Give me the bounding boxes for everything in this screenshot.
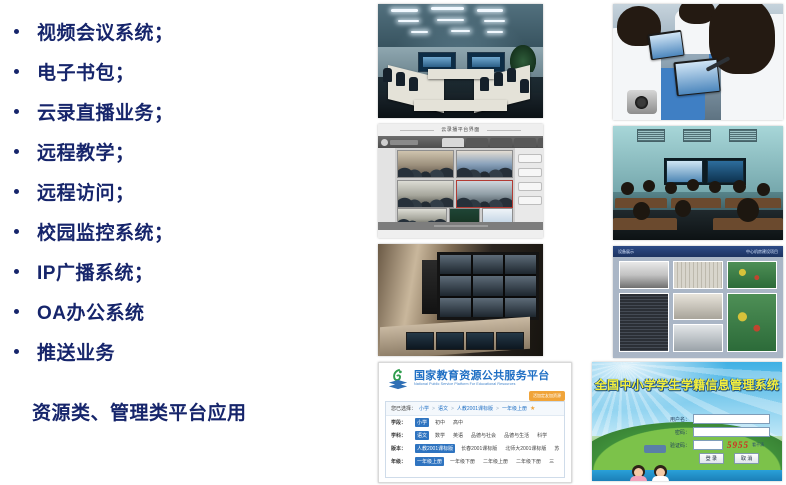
equipment-gallery-screenshot: 设备展示 中心机房建设项目 bbox=[613, 246, 783, 358]
bullet-dot-icon bbox=[14, 189, 19, 194]
app-footer bbox=[378, 222, 543, 230]
captcha-field-row: 验证码： 5955 看不清 bbox=[666, 440, 770, 450]
list-item: 校园监控系统； bbox=[14, 216, 174, 246]
filter-option[interactable]: 一年级下册 bbox=[448, 457, 477, 466]
filter-label: 版本： bbox=[391, 445, 411, 452]
filter-option[interactable]: 初中 bbox=[433, 418, 447, 427]
filter-row-stage: 学段： 小学 初中 高中 bbox=[386, 416, 564, 429]
filter-row-grade: 年级： 一年级上册 一年级下册 二年级上册 二年级下册 三 bbox=[386, 455, 564, 468]
breadcrumb-label: 您已选择： bbox=[391, 405, 416, 412]
password-input[interactable] bbox=[693, 427, 770, 437]
tab-vod[interactable] bbox=[490, 138, 512, 147]
list-item-label: OA办公系统 bbox=[37, 298, 145, 325]
list-item: OA办公系统 bbox=[14, 296, 145, 326]
breadcrumb-item[interactable]: 人教2001课标版 bbox=[457, 405, 493, 412]
platform-logo-icon bbox=[387, 368, 409, 390]
gallery-photo[interactable] bbox=[673, 324, 723, 352]
cloud-platform-caption: 云录播平台界面 bbox=[378, 126, 543, 133]
bullet-dot-icon bbox=[14, 29, 19, 34]
gallery-photo[interactable] bbox=[619, 293, 669, 352]
video-cell[interactable] bbox=[397, 180, 454, 208]
laptop-icon bbox=[644, 445, 666, 453]
cloud-recording-platform-screenshot: 云录播平台界面 bbox=[378, 124, 543, 238]
remote-teaching-classroom-photo bbox=[613, 126, 783, 240]
username-field-row: 用户名： bbox=[666, 414, 770, 424]
breadcrumb-item[interactable]: 一年级上册 bbox=[502, 405, 527, 412]
surveillance-control-room-photo bbox=[378, 244, 543, 356]
bullet-dot-icon bbox=[14, 229, 19, 234]
platform-title-en: National Public Service Platform For Edu… bbox=[414, 383, 550, 387]
filter-option-selected[interactable]: 语文 bbox=[415, 431, 429, 440]
gallery-photo[interactable] bbox=[673, 293, 723, 321]
filter-label: 年级： bbox=[391, 458, 411, 465]
list-item-label: 远程教学； bbox=[37, 138, 135, 165]
bullet-dot-icon bbox=[14, 69, 19, 74]
password-field-row: 密码： bbox=[666, 427, 770, 437]
tab-resource[interactable] bbox=[514, 138, 536, 147]
tab-live[interactable] bbox=[466, 138, 488, 147]
breadcrumb-separator: > bbox=[432, 406, 435, 412]
projection-screen-left bbox=[664, 158, 705, 185]
gallery-grid bbox=[619, 261, 777, 352]
right-control-panel[interactable] bbox=[515, 148, 543, 230]
username-label: 用户名： bbox=[666, 416, 690, 423]
tab-home[interactable] bbox=[442, 138, 464, 147]
app-logo-icon bbox=[381, 139, 388, 146]
list-item: 视频会议系统； bbox=[14, 16, 174, 46]
filter-option[interactable]: 三 bbox=[547, 457, 556, 466]
gallery-subtitle: 中心机房建设项目 bbox=[746, 249, 778, 255]
promo-badge[interactable]: 活加定友加资源 bbox=[529, 391, 565, 401]
username-input[interactable] bbox=[693, 414, 770, 424]
captcha-input[interactable] bbox=[693, 440, 723, 450]
filter-option[interactable]: 长春2001课标版 bbox=[459, 444, 499, 453]
system-title: 全国中小学学生学籍信息管理系统 bbox=[592, 376, 782, 393]
gallery-photo[interactable] bbox=[727, 293, 777, 352]
gallery-photo[interactable] bbox=[619, 261, 669, 289]
filter-option[interactable]: 二年级下册 bbox=[514, 457, 543, 466]
camera-device bbox=[627, 90, 657, 114]
filter-option[interactable]: 北师大2001课标版 bbox=[503, 444, 548, 453]
breadcrumb-separator: > bbox=[496, 406, 499, 412]
app-brand bbox=[390, 140, 418, 145]
bullet-dot-icon bbox=[14, 349, 19, 354]
gallery-title: 设备展示 bbox=[618, 249, 634, 255]
gallery-header-bar: 设备展示 中心机房建设项目 bbox=[613, 246, 783, 257]
filter-option[interactable]: 品德与生活 bbox=[502, 431, 531, 440]
list-item: 远程访问； bbox=[14, 176, 135, 206]
filter-option[interactable]: 苏 bbox=[552, 444, 561, 453]
breadcrumb-item[interactable]: 语文 bbox=[438, 405, 448, 412]
breadcrumb-item[interactable]: 小学 bbox=[419, 405, 429, 412]
filter-option[interactable]: 科学 bbox=[535, 431, 549, 440]
favorite-star-icon[interactable]: ★ bbox=[530, 405, 535, 412]
cancel-button[interactable]: 取 消 bbox=[734, 453, 759, 464]
filter-option[interactable]: 品德与社会 bbox=[469, 431, 498, 440]
breadcrumb-separator: > bbox=[451, 406, 454, 412]
filter-option-selected[interactable]: 一年级上册 bbox=[415, 457, 444, 466]
list-item: 电子书包； bbox=[14, 56, 135, 86]
login-form: 用户名： 密码： 验证码： 5955 看不清 登 录 取 消 bbox=[666, 414, 770, 464]
filter-option[interactable]: 英语 bbox=[451, 431, 465, 440]
site-header: 国家教育资源公共服务平台 National Public Service Pla… bbox=[387, 368, 550, 390]
education-resource-platform-screenshot: 国家教育资源公共服务平台 National Public Service Pla… bbox=[378, 362, 572, 483]
video-wall bbox=[437, 252, 539, 320]
bullet-dot-icon bbox=[14, 109, 19, 114]
filter-option[interactable]: 二年级上册 bbox=[481, 457, 510, 466]
gallery-photo[interactable] bbox=[673, 261, 723, 289]
list-item-label: 视频会议系统； bbox=[37, 18, 174, 45]
tab-manage[interactable] bbox=[538, 138, 543, 147]
filter-option[interactable]: 数学 bbox=[433, 431, 447, 440]
app-topbar bbox=[378, 136, 543, 148]
refresh-captcha-link[interactable]: 看不清 bbox=[752, 442, 764, 448]
list-item-label: 远程访问； bbox=[37, 178, 135, 205]
tablet-classroom-photo bbox=[613, 4, 783, 120]
list-item-label: 校园监控系统； bbox=[37, 218, 174, 245]
filter-label: 学科： bbox=[391, 432, 411, 439]
filter-option[interactable]: 高中 bbox=[451, 418, 465, 427]
tablet-device bbox=[647, 30, 684, 60]
list-item: 云录直播业务； bbox=[14, 96, 174, 126]
filter-row-edition: 版本： 人教2001课标版 长春2001课标版 北师大2001课标版 苏 bbox=[386, 442, 564, 455]
filter-label: 学段： bbox=[391, 419, 411, 426]
bullet-dot-icon bbox=[14, 309, 19, 314]
list-item-label: IP广播系统； bbox=[37, 258, 153, 285]
filter-option-selected[interactable]: 小学 bbox=[415, 418, 429, 427]
breadcrumb: 您已选择： 小学 > 语文 > 人教2001课标版 > 一年级上册 ★ bbox=[386, 402, 564, 416]
filter-option-selected[interactable]: 人教2001课标版 bbox=[415, 444, 455, 453]
video-cell[interactable] bbox=[456, 150, 513, 178]
list-item: IP广播系统； bbox=[14, 256, 153, 286]
list-item-label: 云录直播业务； bbox=[37, 98, 174, 125]
summary-text: 资源类、管理类平台应用 bbox=[32, 398, 247, 425]
gallery-photo[interactable] bbox=[727, 261, 777, 289]
bullet-list: 视频会议系统； 电子书包； 云录直播业务； 远程教学； 远程访问； 校园监控系统… bbox=[0, 0, 370, 485]
captcha-image: 5955 bbox=[727, 440, 749, 450]
conference-room-photo bbox=[378, 4, 543, 118]
password-label: 密码： bbox=[666, 429, 690, 436]
list-item: 推送业务 bbox=[14, 336, 115, 366]
left-sidebar[interactable] bbox=[378, 148, 395, 230]
student-registry-login-screenshot: 全国中小学学生学籍信息管理系统 用户名： 密码： 验证码： bbox=[592, 362, 782, 481]
bullet-dot-icon bbox=[14, 149, 19, 154]
video-grid bbox=[397, 150, 513, 208]
list-item-label: 电子书包； bbox=[37, 58, 135, 85]
filter-row-subject: 学科： 语文 数学 英语 品德与社会 品德与生活 科学 bbox=[386, 429, 564, 442]
filter-panel: 您已选择： 小学 > 语文 > 人教2001课标版 > 一年级上册 ★ 学段： … bbox=[385, 401, 565, 478]
login-button[interactable]: 登 录 bbox=[699, 453, 724, 464]
captcha-label: 验证码： bbox=[666, 442, 690, 449]
list-item: 远程教学； bbox=[14, 136, 135, 166]
video-cell[interactable] bbox=[397, 150, 454, 178]
video-cell-selected[interactable] bbox=[456, 180, 513, 208]
bullet-dot-icon bbox=[14, 269, 19, 274]
list-item-label: 推送业务 bbox=[37, 338, 115, 365]
